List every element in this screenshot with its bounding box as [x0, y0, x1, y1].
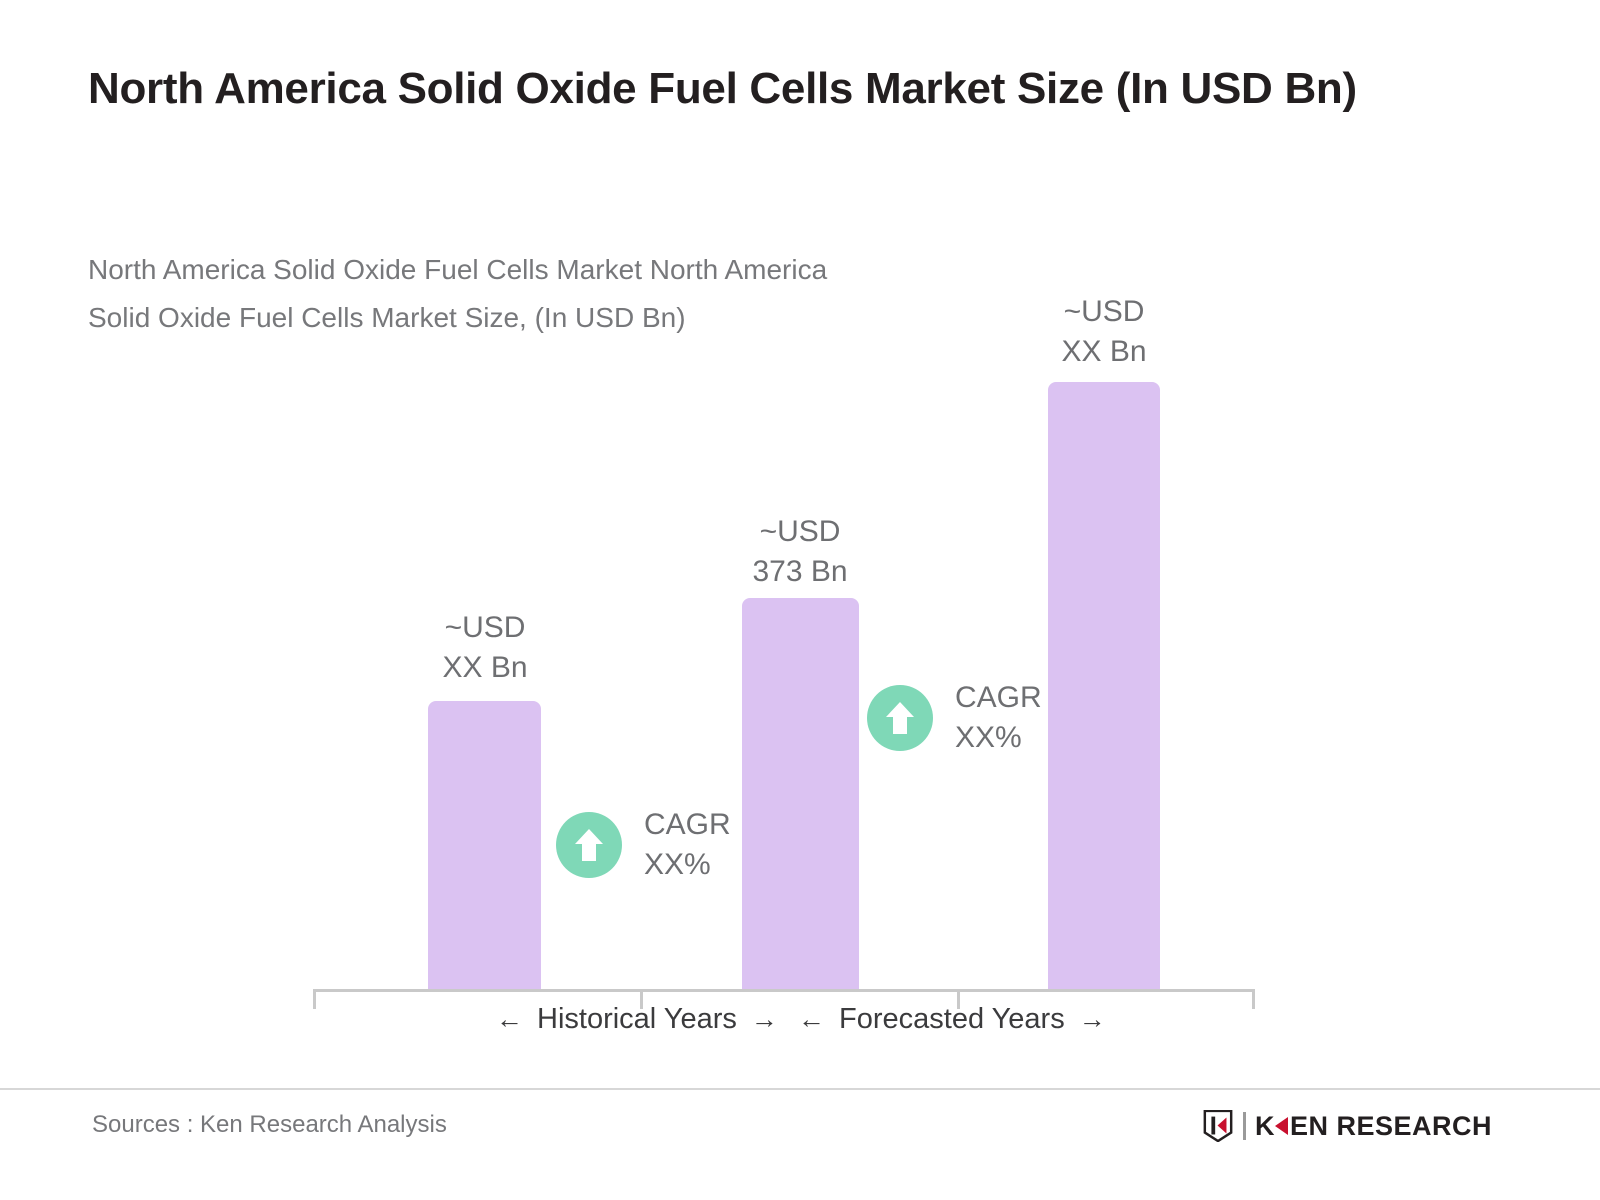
- axis-segment-historical-label: Historical Years: [537, 1003, 737, 1036]
- right-arrow-icon: →: [1079, 1004, 1106, 1035]
- left-arrow-icon: ←: [798, 1004, 825, 1035]
- brand-separator: [1243, 1112, 1246, 1140]
- axis-segment-forecasted-label: Forecasted Years: [839, 1003, 1065, 1036]
- arrow-up-icon: [867, 685, 933, 751]
- axis-segment-forecasted: ← Forecasted Years →: [798, 1003, 1106, 1036]
- x-axis-tick-end: [1252, 989, 1255, 1009]
- bar-3-value-label: ~USD XX Bn: [1014, 292, 1194, 371]
- source-note: Sources : Ken Research Analysis: [92, 1111, 447, 1139]
- cagr-marker-1-label: CAGR XX%: [644, 805, 731, 885]
- bar-3: [1048, 382, 1160, 989]
- bar-chart: ~USD XX Bn ~USD 373 Bn ~USD XX Bn CAGR X…: [0, 0, 1600, 1200]
- brand-word-rest: EN RESEARCH: [1290, 1111, 1492, 1142]
- right-arrow-icon: →: [751, 1004, 778, 1035]
- x-axis-tick-start: [313, 989, 316, 1009]
- cagr-marker-2: CAGR XX%: [867, 678, 1042, 758]
- bar-2: [742, 598, 859, 989]
- cagr-marker-2-label: CAGR XX%: [955, 678, 1042, 758]
- x-axis-line: [313, 989, 1255, 992]
- bar-1-value-label: ~USD XX Bn: [395, 608, 575, 687]
- brand-word-k: K: [1255, 1111, 1275, 1142]
- arrow-up-icon: [556, 812, 622, 878]
- brand-triangle-icon: [1275, 1117, 1288, 1135]
- axis-segment-historical: ← Historical Years →: [496, 1003, 778, 1036]
- bar-1: [428, 701, 541, 989]
- left-arrow-icon: ←: [496, 1004, 523, 1035]
- bar-2-value-label: ~USD 373 Bn: [710, 512, 890, 591]
- brand-wordmark: KEN RESEARCH: [1255, 1111, 1492, 1142]
- brand-logo: KEN RESEARCH: [1202, 1110, 1492, 1142]
- ken-research-logo-icon: [1202, 1110, 1234, 1142]
- cagr-marker-1: CAGR XX%: [556, 805, 731, 885]
- footer-divider: [0, 1088, 1600, 1090]
